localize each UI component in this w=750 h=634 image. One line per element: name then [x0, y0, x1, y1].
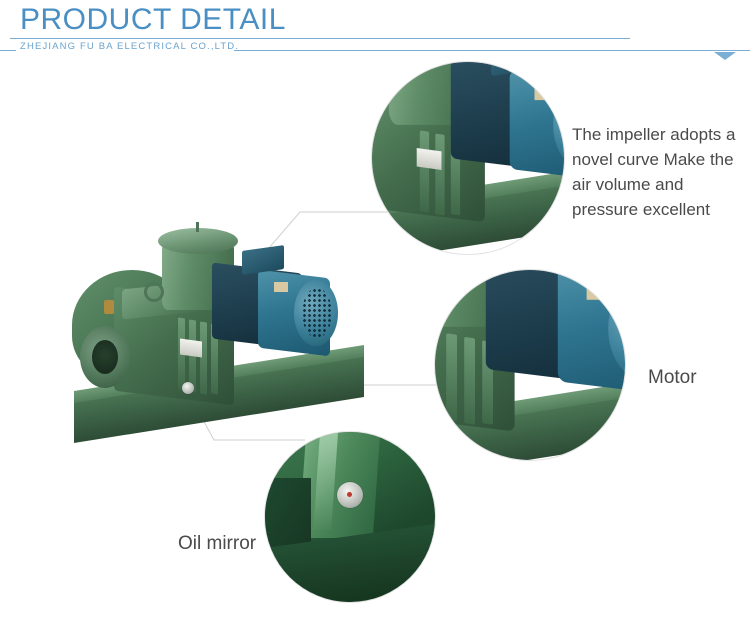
machine-motor-vent-grille [302, 288, 332, 338]
callout-text-motor: Motor [648, 365, 697, 390]
machine-motor-nameplate [274, 282, 288, 292]
detail-impeller-scene [372, 62, 564, 254]
oil-mirror-level-dot [347, 492, 352, 497]
motor-detail-nameplate [587, 284, 610, 300]
machine-air-filter-knob [196, 222, 199, 232]
oil-mirror-sight-glass [182, 382, 194, 394]
detail-fin [420, 130, 429, 212]
detail-photo-motor [435, 270, 625, 460]
machine-lifting-eye [144, 282, 164, 302]
main-product-photo [62, 222, 382, 462]
detail-photo-oil-mirror [265, 432, 435, 602]
callout-text-impeller: The impeller adopts a novel curve Make t… [572, 122, 750, 222]
machine-relief-valve [104, 300, 114, 314]
callout-text-oil-mirror: Oil mirror [178, 531, 256, 556]
detail-photo-impeller [372, 62, 564, 254]
motor-detail-fin [464, 337, 475, 425]
detail-motor-scene [435, 270, 625, 460]
detail-fin [435, 134, 444, 216]
product-detail-page: PRODUCT DETAIL ZHEJIANG FU BA ELECTRICAL… [0, 0, 750, 634]
motor-detail-fin [446, 333, 457, 421]
detail-motor-nameplate [534, 88, 553, 100]
machine-fin [200, 322, 207, 395]
machine-nameplate [180, 338, 202, 357]
machine-flange-bore [92, 340, 118, 374]
detail-nameplate [417, 148, 442, 170]
